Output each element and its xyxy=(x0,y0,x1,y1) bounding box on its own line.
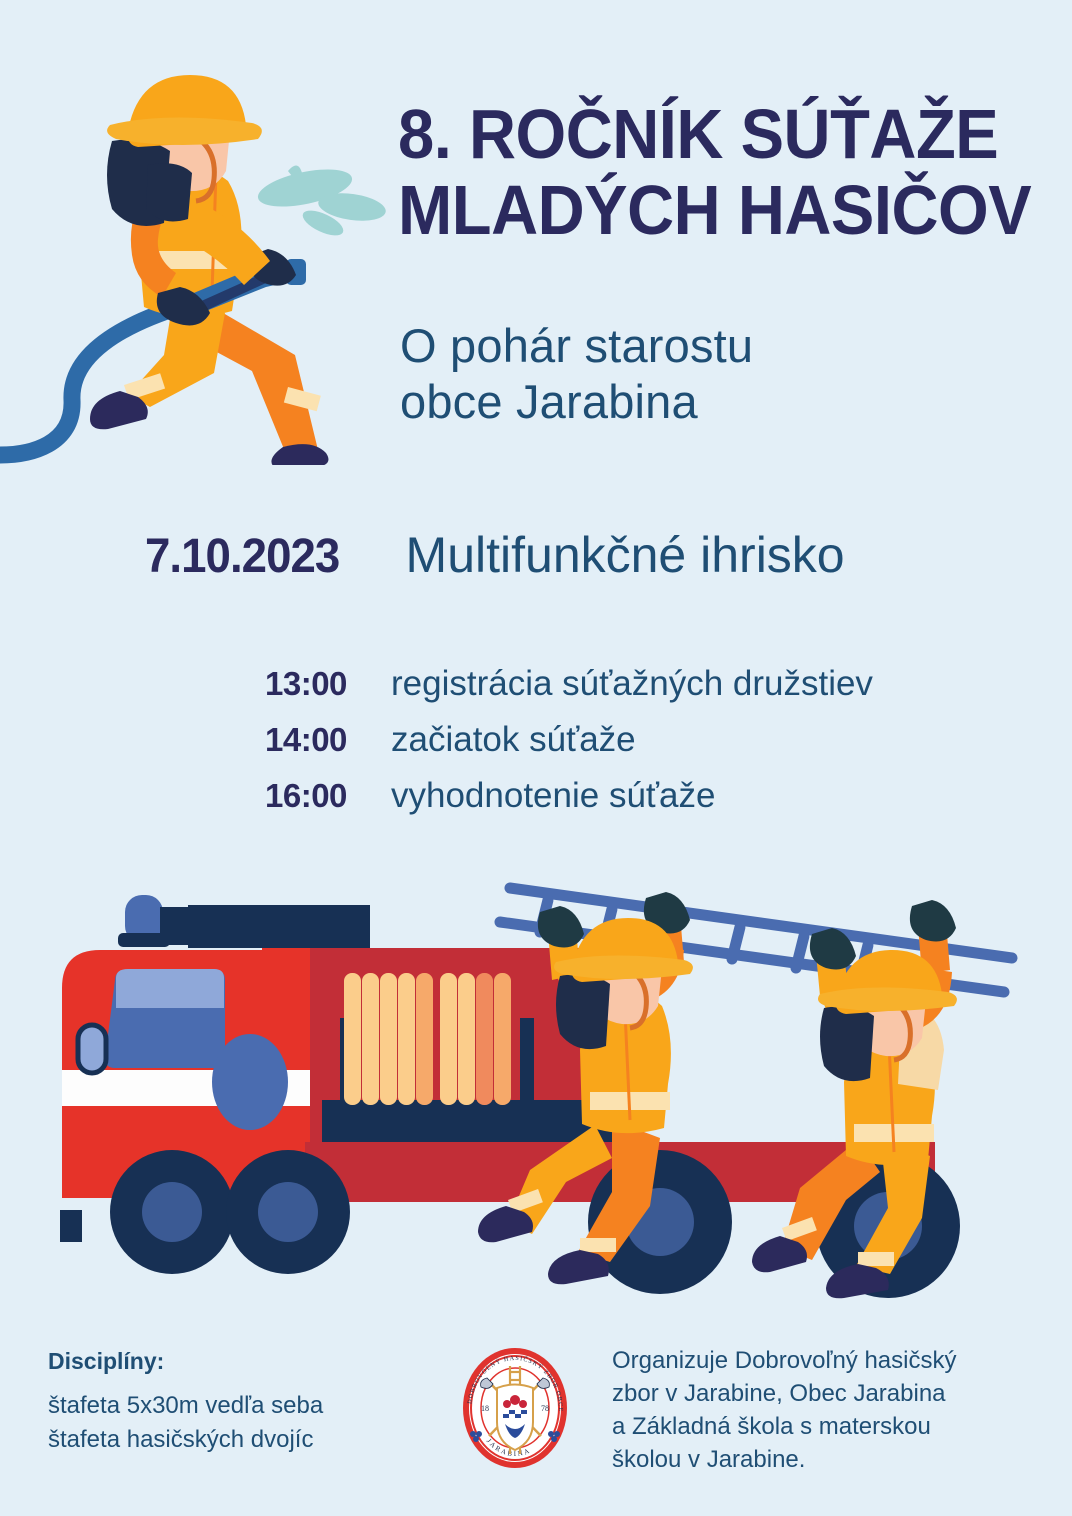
schedule-list: 13:00 registrácia súťažných družstiev 14… xyxy=(265,664,1025,832)
schedule-activity: začiatok súťaže xyxy=(391,720,636,760)
schedule-row: 13:00 registrácia súťažných družstiev xyxy=(265,664,1025,704)
poster-subtitle: O pohár starostu obce Jarabina xyxy=(400,318,1020,430)
schedule-activity: registrácia súťažných družstiev xyxy=(391,664,873,704)
schedule-activity: vyhodnotenie súťaže xyxy=(391,776,715,816)
hose-coils xyxy=(344,973,511,1105)
emblem-year-left: 18 xyxy=(481,1404,489,1413)
fire-truck-and-firefighters-with-ladder-illustration xyxy=(0,870,1072,1300)
water-spray xyxy=(255,162,388,240)
poster-headline: 8. ROČNÍK SÚŤAŽE MLADÝCH HASIČOV xyxy=(398,96,998,248)
event-venue: Multifunkčné ihrisko xyxy=(406,526,845,584)
organizer-line-4: školou v Jarabine. xyxy=(612,1443,1032,1476)
event-date: 7.10.2023 xyxy=(145,529,339,584)
organizer-block: Organizuje Dobrovoľný hasičský zbor v Ja… xyxy=(612,1344,1032,1476)
event-date-venue: 7.10.2023 Multifunkčné ihrisko xyxy=(145,526,1025,584)
organizer-line-3: a Základná škola s materskou xyxy=(612,1410,1032,1443)
poster-canvas: 8. ROČNÍK SÚŤAŽE MLADÝCH HASIČOV O pohár… xyxy=(0,0,1072,1516)
headline-line-2: MLADÝCH HASIČOV xyxy=(398,172,956,248)
organizer-line-2: zbor v Jarabine, Obec Jarabina xyxy=(612,1377,1032,1410)
headline-line-1: 8. ROČNÍK SÚŤAŽE xyxy=(398,96,956,172)
organizer-line-1: Organizuje Dobrovoľný hasičský xyxy=(612,1344,1032,1377)
schedule-row: 16:00 vyhodnotenie súťaže xyxy=(265,776,1025,816)
schedule-time: 14:00 xyxy=(265,721,391,759)
schedule-row: 14:00 začiatok súťaže xyxy=(265,720,1025,760)
discipline-line-2: štafeta hasičských dvojíc xyxy=(48,1423,448,1457)
subtitle-line-1: O pohár starostu xyxy=(400,318,1020,374)
emblem-year-right: 78 xyxy=(541,1404,549,1413)
schedule-time: 13:00 xyxy=(265,665,391,703)
fire-brigade-emblem-icon: DOBROVOĽNÝ HASIČSKÝ ZBOR OBCE JARABINA 1… xyxy=(455,1338,575,1478)
discipline-line-1: štafeta 5x30m vedľa seba xyxy=(48,1389,448,1423)
schedule-time: 16:00 xyxy=(265,777,391,815)
disciplines-title: Disciplíny: xyxy=(48,1348,448,1375)
disciplines-block: Disciplíny: štafeta 5x30m vedľa seba šta… xyxy=(48,1348,448,1457)
subtitle-line-2: obce Jarabina xyxy=(400,374,1020,430)
firefighter-with-hose-illustration xyxy=(0,55,410,465)
